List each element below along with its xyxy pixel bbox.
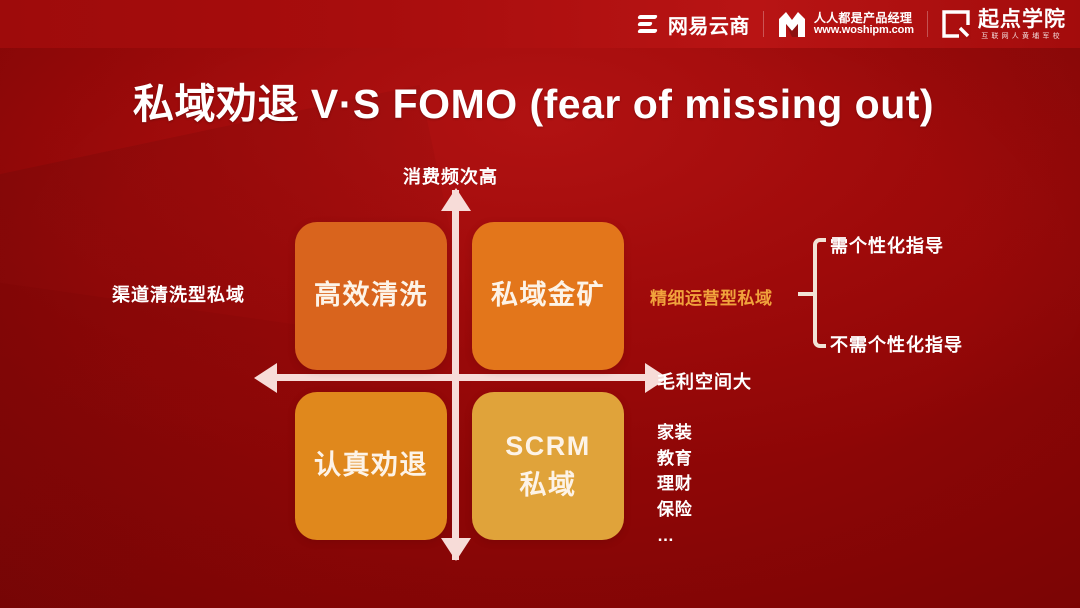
logo-divider-2 — [927, 11, 928, 37]
slide-title: 私域劝退 V·S FOMO (fear of missing out) — [133, 70, 934, 130]
industry-item: 保险 — [657, 498, 693, 523]
logo-netease-label: 网易云商 — [668, 10, 750, 39]
qidian-text-block: 起点学院 互联网人黄埔军校 — [978, 9, 1066, 40]
quadrant-label-top-left: 高效清洗 — [314, 276, 428, 315]
left-group-label: 渠道清洗型私域 — [112, 281, 245, 307]
industry-list: 家装 教育 理财 保险 … — [657, 421, 693, 548]
header-bar: 网易云商 人人都是产品经理 www.woshipm.com — [0, 0, 1080, 48]
branch-label-needs-guidance: 需个性化指导 — [830, 232, 944, 258]
axis-arrow-up-icon — [441, 188, 471, 211]
axis-label-y-positive: 消费频次高 — [403, 163, 498, 189]
quadrant-box-top-left[interactable]: 高效清洗 — [295, 222, 447, 370]
woshipm-url: www.woshipm.com — [814, 25, 914, 37]
quadrant-label-bottom-right-line2: 私域 — [520, 466, 577, 505]
woshipm-logo-icon — [777, 11, 807, 38]
quadrant-box-bottom-right[interactable]: SCRM 私域 — [472, 392, 624, 540]
axis-label-x-positive: 毛利空间大 — [657, 368, 752, 394]
industry-item: 教育 — [657, 447, 693, 472]
right-group-label: 精细运营型私域 — [650, 284, 773, 309]
logo-netease-cloud-commerce: 网易云商 — [635, 10, 750, 39]
industry-item: … — [657, 524, 693, 549]
quadrant-label-top-right: 私域金矿 — [491, 276, 605, 315]
axis-arrow-left-icon — [254, 363, 277, 393]
logo-divider-1 — [763, 11, 764, 37]
qidian-academy-logo-icon — [941, 9, 971, 39]
horizontal-axis-line — [277, 374, 645, 381]
woshipm-text-block: 人人都是产品经理 www.woshipm.com — [814, 12, 914, 36]
industry-item: 家装 — [657, 421, 693, 446]
quadrant-label-bottom-right-line1: SCRM — [505, 427, 591, 466]
qidian-label: 起点学院 — [978, 9, 1066, 30]
industry-item: 理财 — [657, 472, 693, 497]
logo-group: 网易云商 人人都是产品经理 www.woshipm.com — [635, 9, 1066, 40]
netease-cloud-commerce-logo-icon — [635, 11, 661, 37]
slide-canvas: 网易云商 人人都是产品经理 www.woshipm.com — [0, 0, 1080, 608]
logo-qidian-academy: 起点学院 互联网人黄埔军校 — [941, 9, 1066, 40]
axis-arrow-down-icon — [441, 538, 471, 561]
qidian-subtitle: 互联网人黄埔军校 — [981, 33, 1063, 40]
quadrant-box-bottom-left[interactable]: 认真劝退 — [295, 392, 447, 540]
woshipm-label: 人人都是产品经理 — [814, 12, 914, 25]
branch-label-no-guidance: 不需个性化指导 — [830, 331, 963, 357]
logo-woshipm: 人人都是产品经理 www.woshipm.com — [777, 11, 914, 38]
bracket-icon — [813, 238, 826, 348]
quadrant-box-top-right[interactable]: 私域金矿 — [472, 222, 624, 370]
quadrant-label-bottom-left: 认真劝退 — [314, 446, 428, 485]
